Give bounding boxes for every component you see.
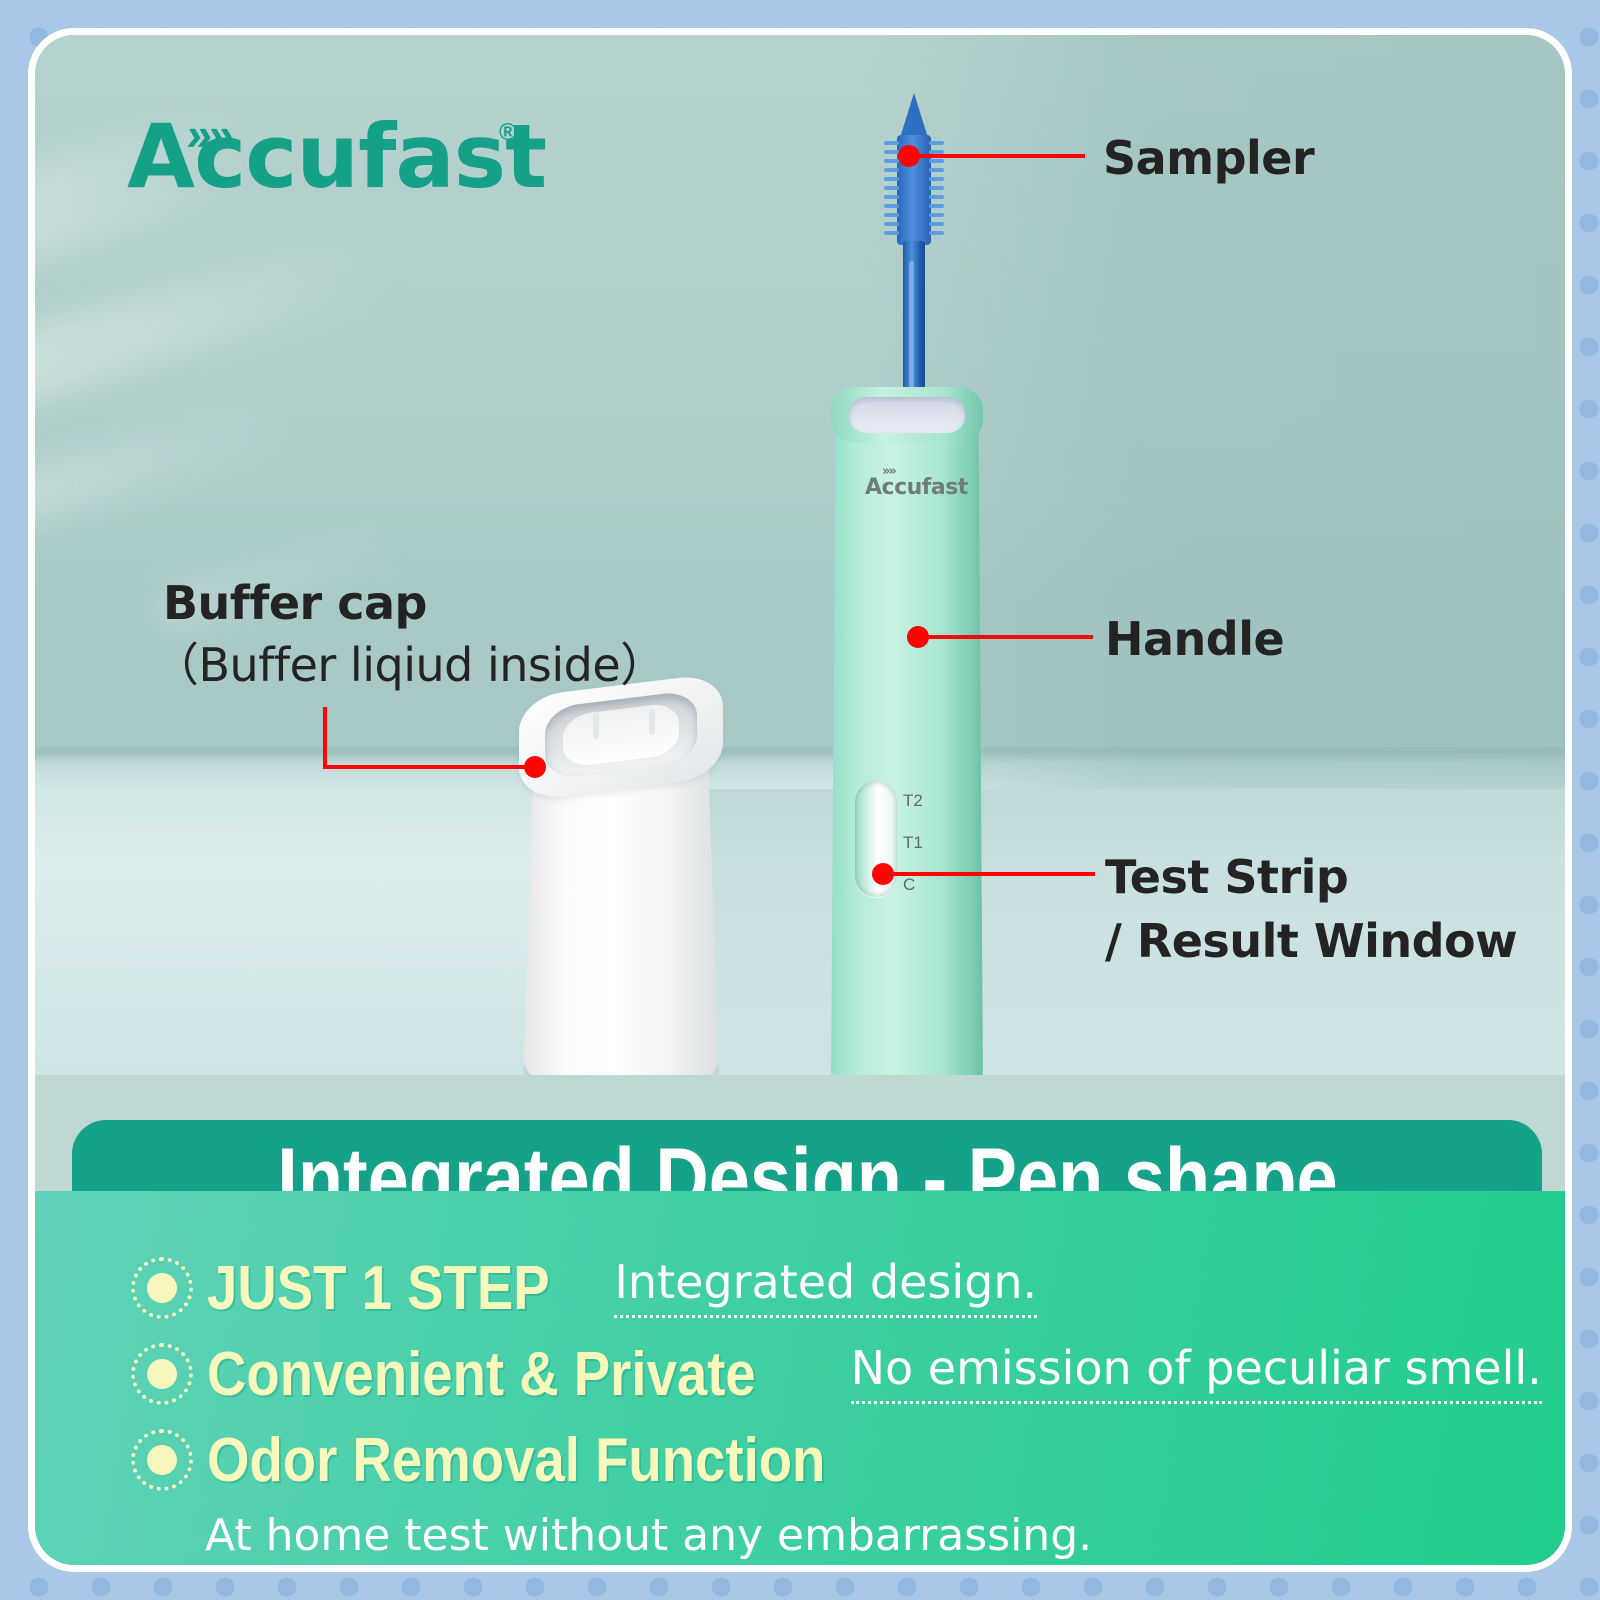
handle-logo-text: Accufast bbox=[865, 475, 968, 500]
callout-label-sampler: Sampler bbox=[1103, 128, 1314, 189]
sampler-bristle bbox=[929, 231, 944, 235]
sampler-bristle bbox=[929, 177, 944, 181]
sampler-bristle bbox=[884, 141, 899, 145]
result-mark-t2: T2 bbox=[903, 791, 923, 811]
feature-subtext-1: Integrated design. bbox=[614, 1258, 1037, 1317]
handle-brand-logo: »» Accufast bbox=[865, 475, 968, 500]
feature-list-panel: JUST 1 STEP Integrated design. Convenien… bbox=[35, 1191, 1565, 1572]
feature-heading-3: Odor Removal Function bbox=[207, 1425, 825, 1496]
sampler-bristle bbox=[884, 204, 899, 208]
bullet-dot-icon bbox=[131, 1343, 193, 1405]
bullet-core bbox=[147, 1359, 177, 1389]
feature-subtext-2: No emission of peculiar smell. bbox=[851, 1344, 1542, 1403]
sampler-bristle bbox=[884, 159, 899, 163]
sampler-swab bbox=[873, 93, 957, 423]
light-streak bbox=[35, 228, 397, 411]
callout-dot-buffer-cap bbox=[524, 756, 546, 778]
callout-line-buffer-cap-vertical bbox=[323, 707, 327, 769]
bullet-dot-icon bbox=[131, 1429, 193, 1491]
sampler-bristle bbox=[884, 177, 899, 181]
callout-line-buffer-cap-horizontal bbox=[323, 765, 535, 769]
buffer-cap-fin bbox=[593, 713, 599, 740]
sampler-bristle bbox=[884, 186, 899, 190]
callout-line-sampler bbox=[915, 154, 1085, 158]
sampler-bristle bbox=[884, 150, 899, 154]
device-handle: »» Accufast T2 T1 C bbox=[817, 387, 997, 1075]
light-streak bbox=[35, 395, 297, 530]
bullet-core bbox=[147, 1273, 177, 1303]
product-photo-scene: »» Accufast ® »» Accufast T2 bbox=[35, 35, 1565, 1075]
logo-chevrons-icon: »» bbox=[184, 107, 233, 161]
bullet-core bbox=[147, 1445, 177, 1475]
buffer-cap-fin bbox=[649, 709, 655, 736]
handle-body bbox=[831, 409, 983, 1075]
sampler-bristle bbox=[929, 213, 944, 217]
result-mark-c: C bbox=[903, 875, 915, 895]
callout-label-handle: Handle bbox=[1105, 609, 1284, 670]
sampler-bristle bbox=[929, 159, 944, 163]
callout-label-test-strip: Test Strip bbox=[1105, 847, 1348, 908]
sampler-bristle bbox=[929, 141, 944, 145]
sampler-bristle bbox=[884, 213, 899, 217]
buffer-cap bbox=[505, 685, 735, 1075]
feature-row-caption: At home test without any embarrassing. bbox=[35, 1499, 1565, 1572]
feature-row: JUST 1 STEP Integrated design. bbox=[35, 1245, 1565, 1331]
sampler-bristle bbox=[929, 204, 944, 208]
sampler-tip bbox=[899, 93, 929, 141]
registered-trademark-icon: ® bbox=[499, 119, 517, 147]
sampler-bristle bbox=[929, 186, 944, 190]
handle-logo-chevrons-icon: »» bbox=[882, 464, 895, 479]
table-edge bbox=[35, 747, 1565, 789]
brand-logo: »» Accufast ® bbox=[127, 113, 546, 201]
feature-row: Convenient & Private No emission of pecu… bbox=[35, 1331, 1565, 1417]
sampler-bristle bbox=[884, 195, 899, 199]
callout-line-handle bbox=[923, 635, 1093, 639]
bullet-dot-icon bbox=[131, 1257, 193, 1319]
sampler-bristle bbox=[929, 195, 944, 199]
feature-heading-1: JUST 1 STEP bbox=[207, 1253, 550, 1324]
outer-frame: »» Accufast ® »» Accufast T2 bbox=[0, 0, 1600, 1600]
sampler-bristle bbox=[884, 168, 899, 172]
callout-sublabel-buffer-cap: （Buffer liqiud inside） bbox=[153, 635, 666, 696]
sampler-bristle bbox=[884, 222, 899, 226]
callout-label-buffer-cap: Buffer cap bbox=[163, 573, 427, 634]
callout-label-result-window: / Result Window bbox=[1105, 911, 1517, 972]
sampler-bristle bbox=[929, 222, 944, 226]
feature-heading-2: Convenient & Private bbox=[207, 1339, 756, 1410]
product-infographic-card: »» Accufast ® »» Accufast T2 bbox=[28, 28, 1572, 1572]
sampler-bristle bbox=[929, 168, 944, 172]
handle-opening bbox=[849, 397, 965, 433]
sampler-bristle bbox=[884, 231, 899, 235]
feature-subtext-3: At home test without any embarrassing. bbox=[205, 1513, 1092, 1570]
callout-line-test-strip bbox=[888, 872, 1095, 876]
result-mark-t1: T1 bbox=[903, 833, 923, 853]
feature-row: Odor Removal Function bbox=[35, 1417, 1565, 1503]
